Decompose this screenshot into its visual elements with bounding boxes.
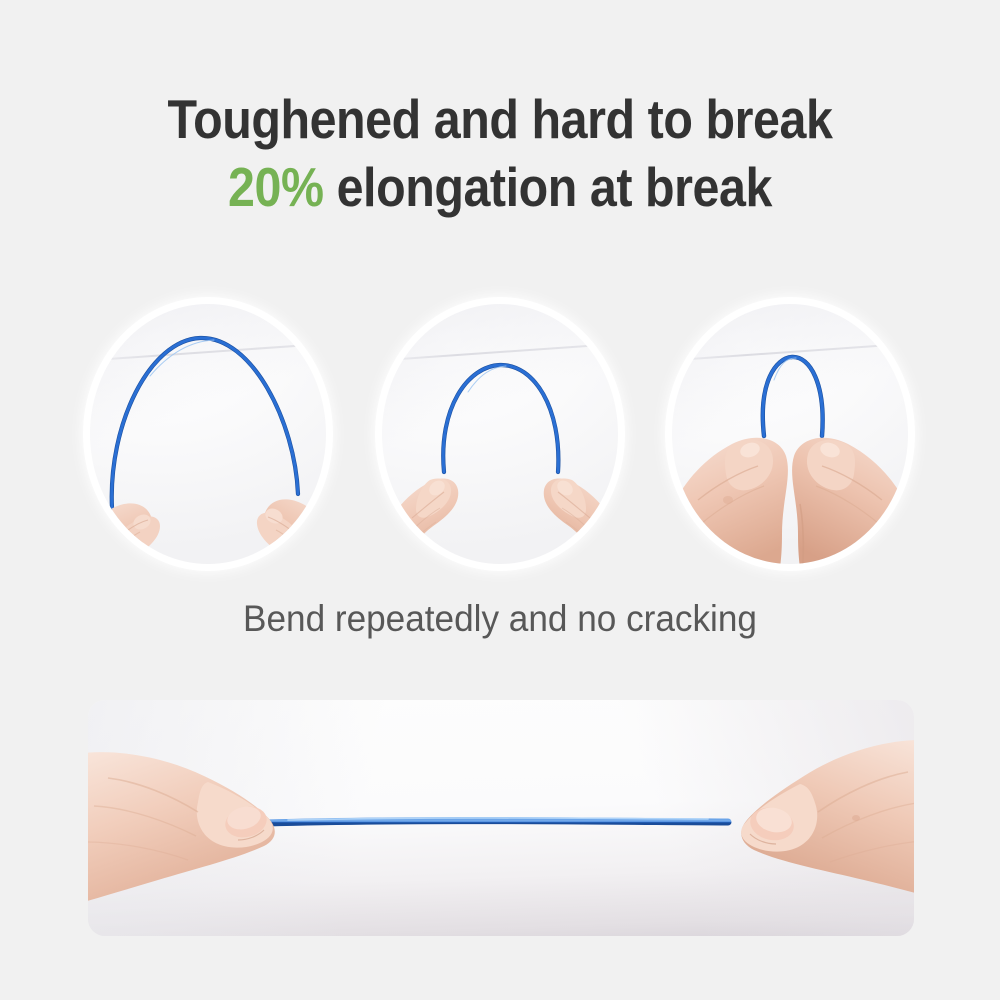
filament-straight bbox=[266, 821, 728, 823]
gallery-caption: Bend repeatedly and no cracking bbox=[25, 598, 975, 640]
right-hand-bottom bbox=[741, 740, 914, 906]
bend-photo-medium-arch bbox=[382, 304, 618, 564]
left-hand-2 bbox=[382, 478, 458, 564]
filament-arch-1 bbox=[112, 338, 298, 508]
filament-arch-shadow-2 bbox=[443, 365, 558, 472]
straight-filament-illustration bbox=[88, 700, 914, 936]
bend-illustration-1 bbox=[90, 304, 326, 564]
right-hand-1 bbox=[257, 499, 326, 564]
bend-sequence-gallery bbox=[0, 300, 1000, 570]
headline-line-2: 20% elongation at break bbox=[60, 160, 940, 215]
filament-arch-shadow-1 bbox=[112, 338, 298, 508]
bend-photo-tight-arch bbox=[672, 304, 908, 564]
headline-line-2-rest: elongation at break bbox=[324, 156, 772, 218]
headline-line-1: Toughened and hard to break bbox=[60, 92, 940, 147]
left-hand-bottom bbox=[88, 752, 275, 912]
filament-highlight-3 bbox=[774, 358, 796, 380]
left-hand-1 bbox=[90, 503, 160, 564]
right-hand-2 bbox=[544, 478, 618, 564]
filament-arch-2 bbox=[443, 365, 558, 472]
headline-block: Toughened and hard to break 20% elongati… bbox=[0, 92, 1000, 215]
bend-illustration-2 bbox=[382, 304, 618, 564]
bend-photo-wide-arch bbox=[90, 304, 326, 564]
filament-arch-shadow-3 bbox=[763, 357, 823, 436]
straight-filament-photo bbox=[88, 700, 914, 936]
left-fist-3 bbox=[672, 438, 788, 564]
bend-illustration-3 bbox=[672, 304, 908, 564]
headline-accent-percent: 20% bbox=[228, 156, 324, 218]
right-fist-3 bbox=[792, 438, 908, 564]
